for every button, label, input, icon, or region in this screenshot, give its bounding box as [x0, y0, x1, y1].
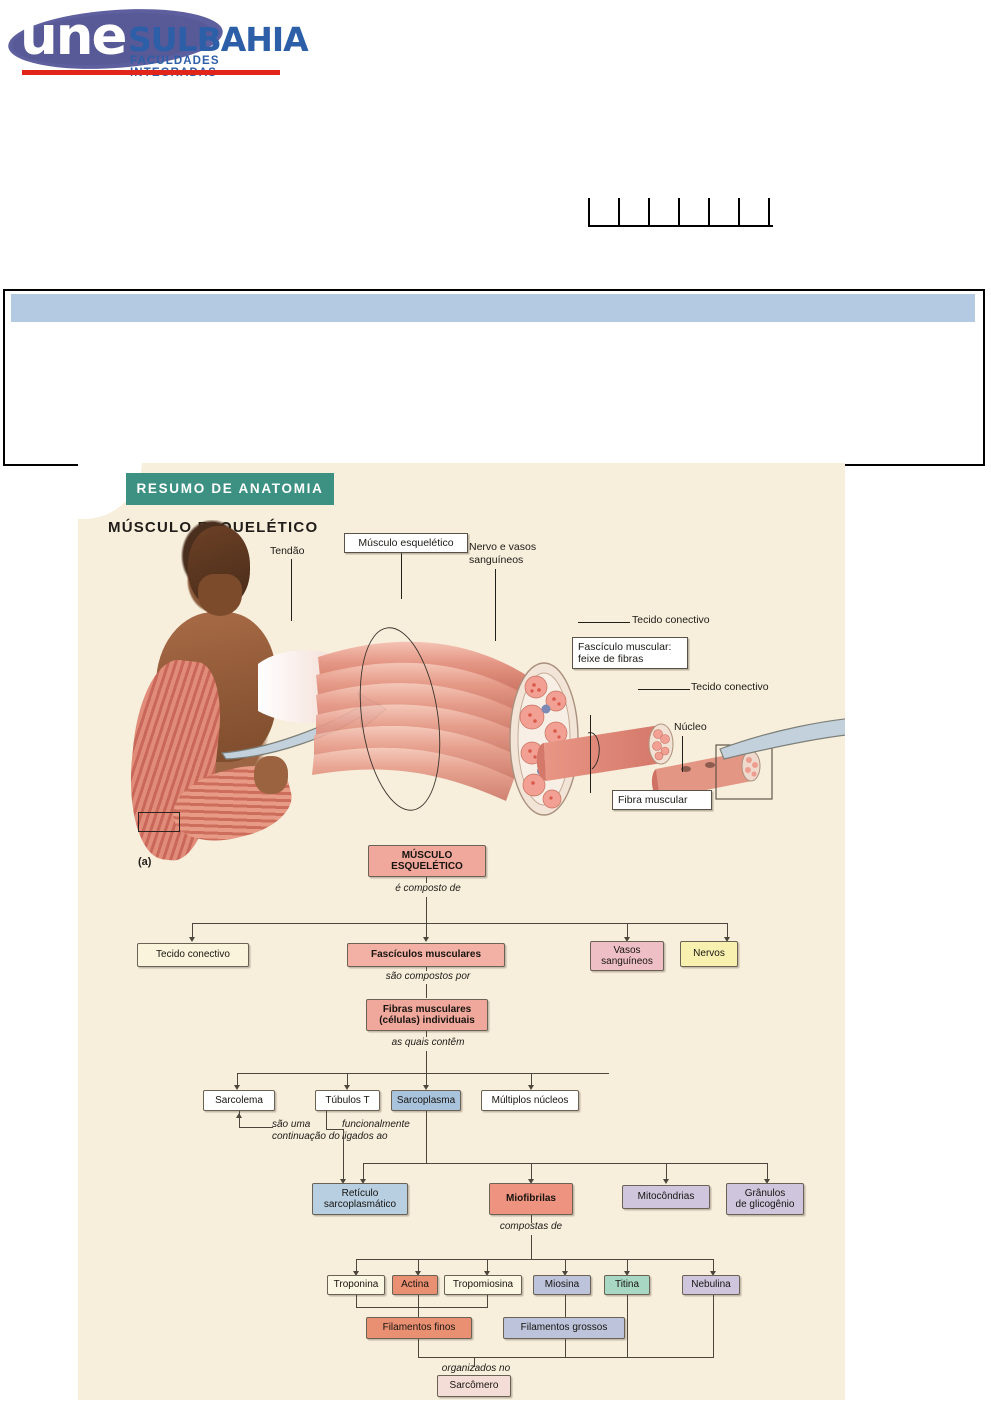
logo-secondary-text: SULBAHIA [128, 23, 308, 57]
cell-divider [618, 198, 620, 226]
node-fasciculos-musculares[interactable]: Fascículos musculares [347, 943, 505, 967]
connector-bus-level5 [356, 1259, 713, 1260]
leader-line-tendao [291, 559, 292, 621]
connector [426, 984, 427, 998]
cell-grid-baseline [588, 225, 773, 227]
connector [343, 1129, 344, 1181]
cell-divider [588, 198, 590, 226]
connector [326, 1129, 343, 1130]
logo-red-rule [22, 70, 280, 75]
connector [418, 1339, 419, 1357]
node-sarcoplasma[interactable]: Sarcoplasma [391, 1090, 461, 1111]
connector-bus-level1 [192, 923, 727, 924]
connector [627, 1295, 628, 1357]
cell-divider [678, 198, 680, 226]
anatomy-summary-panel: RESUMO DE ANATOMIA MÚSCULO ESQUELÉTICO (… [78, 463, 845, 1400]
university-logo: une SULBAHIA FACULDADES INTEGRADAS [6, 6, 296, 80]
label-fasciculo-muscular: Fascículo muscular: feixe de fibras [572, 637, 688, 669]
label-musculo-esqueletico: Músculo esquelético [344, 533, 468, 553]
node-nervos[interactable]: Nervos [680, 941, 738, 967]
leader-line-tecido1 [578, 622, 630, 623]
edge-label-e3: as quais contêm [378, 1037, 478, 1049]
photo-face [198, 574, 242, 616]
node-vasos-sanguineos[interactable]: Vasos sanguíneos [590, 941, 664, 971]
connector-bus-level3 [237, 1073, 609, 1074]
form-cell-grid[interactable] [588, 198, 773, 226]
node-miofibrilas[interactable]: Miofibrilas [489, 1183, 573, 1215]
zoom-arrow-right [718, 703, 845, 765]
content-frame [3, 289, 985, 466]
node-filamentos-finos[interactable]: Filamentos finos [366, 1317, 472, 1339]
cell-divider [648, 198, 650, 226]
connector [426, 1111, 427, 1163]
connector [356, 1307, 488, 1308]
connector [426, 897, 427, 923]
node-actina[interactable]: Actina [392, 1275, 438, 1295]
node-tecido-conectivo[interactable]: Tecido conectivo [137, 943, 249, 967]
leader-line-nucleo [682, 736, 683, 772]
connector [565, 1295, 566, 1317]
cell-divider [708, 198, 710, 226]
node-sarcolema[interactable]: Sarcolema [203, 1090, 275, 1111]
node-troponina[interactable]: Troponina [327, 1275, 385, 1295]
content-frame-header [11, 294, 975, 322]
connector [713, 1295, 714, 1357]
node-musculo-esqueletico[interactable]: MÚSCULO ESQUELÉTICO [368, 845, 486, 877]
leader-line-fibra [590, 715, 591, 793]
connector [426, 1051, 427, 1073]
node-filamentos-grossos[interactable]: Filamentos grossos [503, 1317, 625, 1339]
arrowhead [663, 1179, 669, 1184]
connector [426, 877, 427, 883]
connector [487, 1295, 488, 1307]
node-granulos-glicogenio[interactable]: Grânulos de glicogênio [726, 1183, 804, 1215]
label-fibra-muscular: Fibra muscular [612, 790, 712, 810]
node-tropomiosina[interactable]: Tropomiosina [444, 1275, 522, 1295]
node-mitocondrias[interactable]: Mitocôndrias [622, 1185, 710, 1209]
logo-primary-text: une [20, 10, 125, 64]
node-sarcomero[interactable]: Sarcômero [437, 1375, 511, 1397]
edge-label-e1: é composto de [378, 883, 478, 895]
connector [326, 1111, 327, 1129]
edge-label-e5: funcionalmente ligados ao [342, 1119, 434, 1142]
skeletal-muscle-illustration [258, 569, 798, 869]
leader-line-tecido2 [638, 689, 690, 690]
leader-line-nervo [495, 569, 496, 641]
connector [565, 1339, 566, 1357]
photo-region-of-interest-box [138, 812, 180, 832]
label-nucleo: Núcleo [674, 721, 707, 734]
arrowhead-up [236, 1113, 242, 1118]
leader-line-musculo [401, 551, 402, 599]
node-fibras-musculares[interactable]: Fibras musculares (células) individuais [366, 999, 488, 1031]
connector [426, 967, 427, 971]
node-miosina[interactable]: Miosina [533, 1275, 591, 1295]
label-tecido-conectivo-2: Tecido conectivo [691, 681, 769, 694]
panel-banner: RESUMO DE ANATOMIA [126, 473, 334, 505]
edge-label-e2: são compostos por [374, 971, 482, 983]
connector [531, 1235, 532, 1259]
connector [426, 1031, 427, 1037]
cell-divider [768, 198, 770, 226]
node-reticulo-sarcoplasmatico[interactable]: Retículo sarcoplasmático [312, 1183, 408, 1215]
connector [418, 1295, 419, 1317]
connector [356, 1295, 357, 1307]
panel-banner-label: RESUMO DE ANATOMIA [126, 473, 334, 505]
cell-divider [738, 198, 740, 226]
connector-bus-sarcomero [418, 1357, 714, 1358]
label-tecido-conectivo-1: Tecido conectivo [632, 614, 710, 627]
node-titina[interactable]: Titina [604, 1275, 650, 1295]
node-nebulina[interactable]: Nebulina [682, 1275, 740, 1295]
arrowhead [189, 937, 195, 942]
spacer3 [437, 1365, 445, 1369]
connector [239, 1127, 273, 1128]
edge-label-e6: compostas de [481, 1221, 581, 1233]
label-tendao: Tendão [270, 545, 304, 558]
node-multiplos-nucleos[interactable]: Múltiplos núcleos [481, 1090, 579, 1111]
label-nervo-vasos: Nervo e vasos sanguíneos [469, 541, 536, 566]
logo-tagline: FACULDADES INTEGRADAS [130, 55, 296, 79]
node-tubulos-t[interactable]: Túbulos T [315, 1090, 380, 1111]
connector-bus-level4 [363, 1163, 767, 1164]
arrowhead [423, 937, 429, 942]
